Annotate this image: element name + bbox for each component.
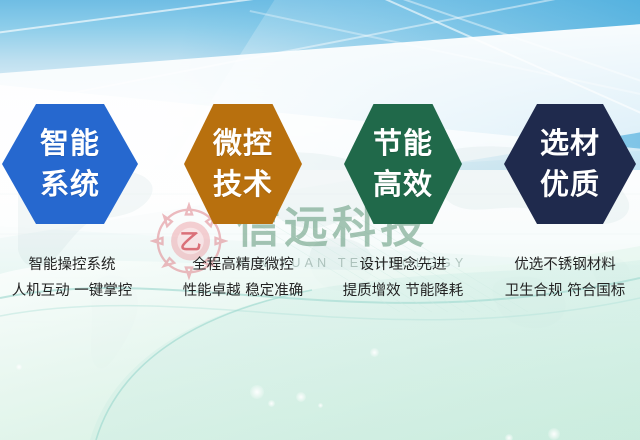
bokeh-dot [370, 348, 379, 357]
hex-title-line1: 智能 [40, 123, 100, 164]
bokeh-dot [296, 392, 306, 402]
caption-line1: 设计理念先进 [323, 252, 483, 278]
bokeh-dot [548, 428, 560, 440]
feature-caption-intelligent-system: 智能操控系统 人机互动 一键掌控 [0, 252, 152, 304]
bokeh-dot [268, 400, 275, 407]
bokeh-dot [505, 434, 513, 440]
promo-banner: 乙 信远科技 XIN YUAN TECHNOLOGY 智能 系统 微控 技术 节… [0, 0, 640, 440]
caption-line2: 性能卓越 稳定准确 [163, 278, 323, 304]
caption-line2: 卫生合规 符合国标 [485, 278, 640, 304]
hex-title-line1: 节能 [373, 123, 433, 164]
hex-title-line2: 技术 [213, 164, 273, 205]
hex-title-line2: 系统 [40, 164, 100, 205]
caption-line1: 优选不锈钢材料 [485, 252, 640, 278]
caption-line2: 人机互动 一键掌控 [0, 278, 152, 304]
bokeh-dot [250, 385, 264, 399]
caption-line1: 全程高精度微控 [163, 252, 323, 278]
hex-title-line2: 高效 [373, 164, 433, 205]
feature-caption-energy-saving: 设计理念先进 提质增效 节能降耗 [323, 252, 483, 304]
feature-caption-material-quality: 优选不锈钢材料 卫生合规 符合国标 [485, 252, 640, 304]
hex-title-line2: 优质 [540, 164, 600, 205]
caption-line1: 智能操控系统 [0, 252, 152, 278]
hex-title-line1: 微控 [213, 123, 273, 164]
bokeh-dot [318, 403, 323, 408]
feature-caption-micro-control: 全程高精度微控 性能卓越 稳定准确 [163, 252, 323, 304]
hex-title-line1: 选材 [540, 123, 600, 164]
caption-line2: 提质增效 节能降耗 [323, 278, 483, 304]
bokeh-dot [16, 364, 22, 370]
